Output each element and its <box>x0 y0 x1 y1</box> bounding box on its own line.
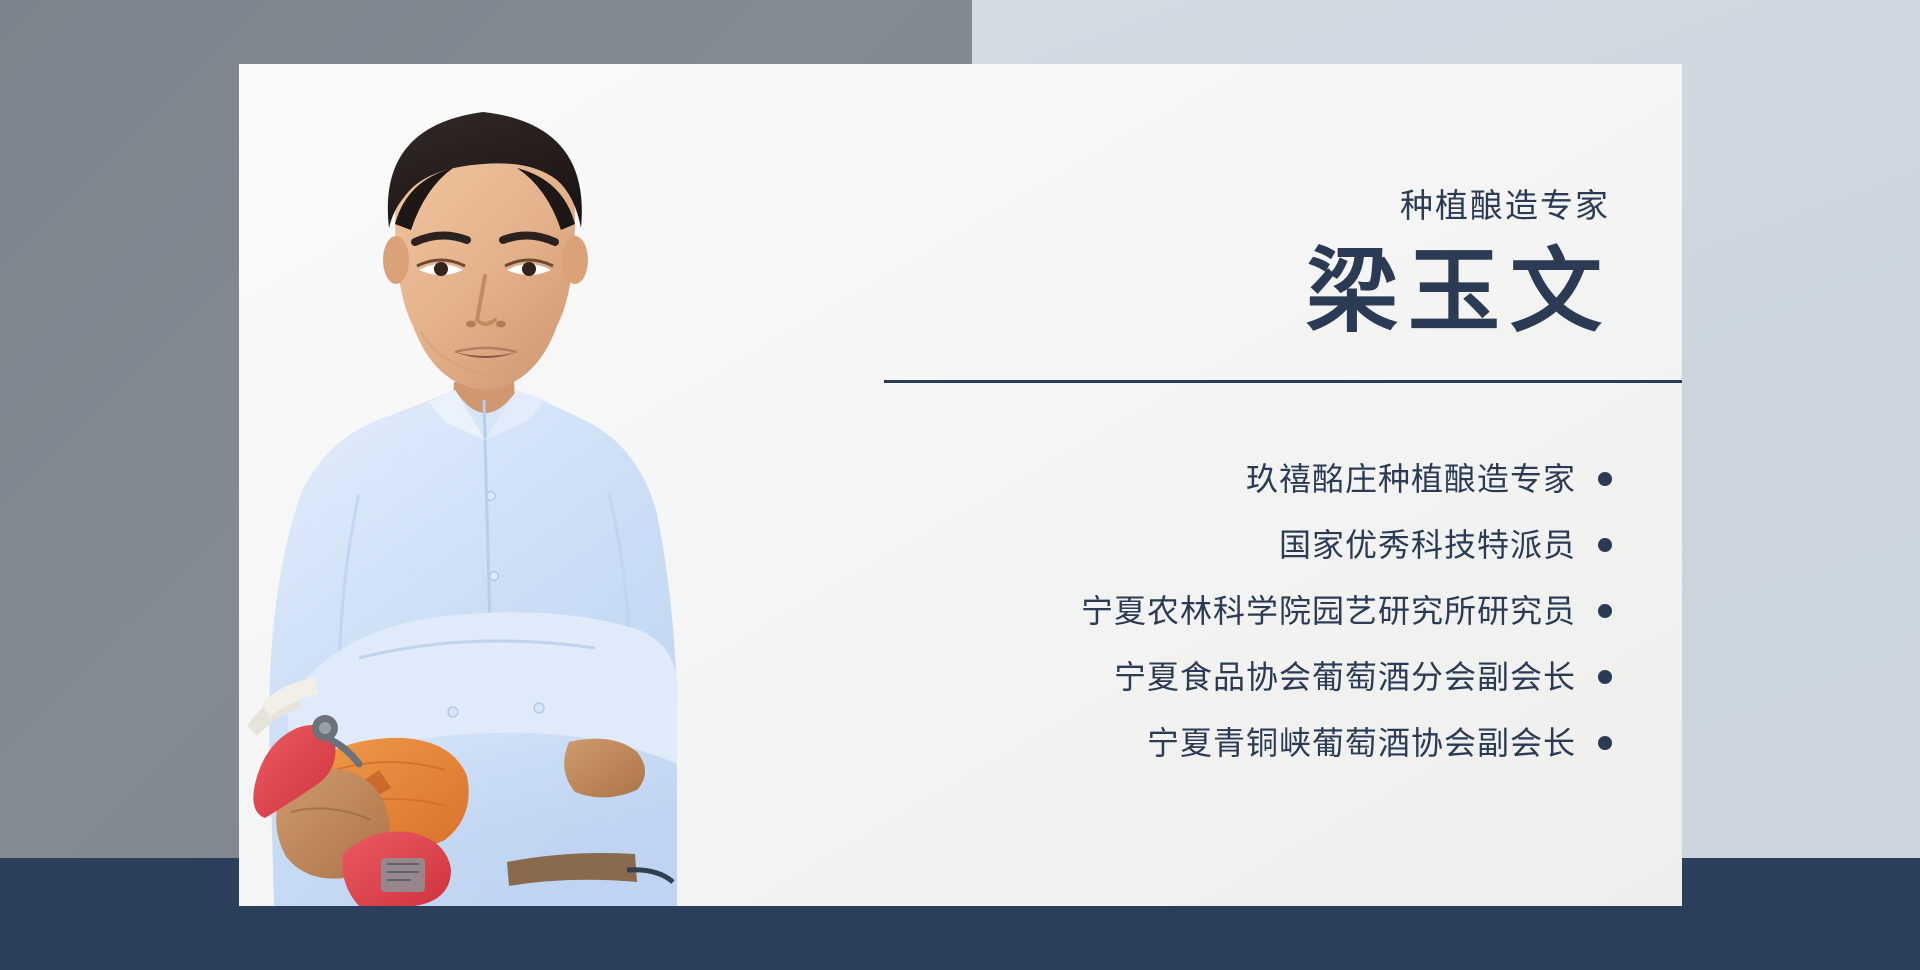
credentials-list: 玖禧酩庄种植酿造专家 国家优秀科技特派员 宁夏农林科学院园艺研究所研究员 宁夏食… <box>852 452 1612 782</box>
portrait-photo <box>239 64 859 906</box>
divider-line <box>884 380 1682 383</box>
bullet-dot-icon <box>1598 670 1612 684</box>
poster-canvas: 种植酿造专家 梁玉文 玖禧酩庄种植酿造专家 国家优秀科技特派员 宁夏农林科学院园… <box>0 0 1920 970</box>
credential-label: 国家优秀科技特派员 <box>1279 525 1576 565</box>
bullet-dot-icon <box>1598 604 1612 618</box>
credential-label: 宁夏食品协会葡萄酒分会副会长 <box>1114 657 1576 697</box>
page-title: 梁玉文 <box>1306 242 1612 342</box>
bullet-dot-icon <box>1598 736 1612 750</box>
credential-label: 宁夏农林科学院园艺研究所研究员 <box>1081 591 1576 631</box>
credential-label: 玖禧酩庄种植酿造专家 <box>1246 459 1576 499</box>
divider <box>884 376 1682 388</box>
list-item: 玖禧酩庄种植酿造专家 <box>852 452 1612 506</box>
list-item: 宁夏食品协会葡萄酒分会副会长 <box>852 650 1612 704</box>
bullet-dot-icon <box>1598 472 1612 486</box>
list-item: 国家优秀科技特派员 <box>852 518 1612 572</box>
profile-text-column: 种植酿造专家 梁玉文 玖禧酩庄种植酿造专家 国家优秀科技特派员 宁夏农林科学院园… <box>839 64 1682 906</box>
bullet-dot-icon <box>1598 538 1612 552</box>
profile-card: 种植酿造专家 梁玉文 玖禧酩庄种植酿造专家 国家优秀科技特派员 宁夏农林科学院园… <box>239 64 1682 906</box>
list-item: 宁夏农林科学院园艺研究所研究员 <box>852 584 1612 638</box>
profile-eyebrow: 种植酿造专家 <box>1400 186 1610 226</box>
list-item: 宁夏青铜峡葡萄酒协会副会长 <box>852 716 1612 770</box>
credential-label: 宁夏青铜峡葡萄酒协会副会长 <box>1147 723 1576 763</box>
